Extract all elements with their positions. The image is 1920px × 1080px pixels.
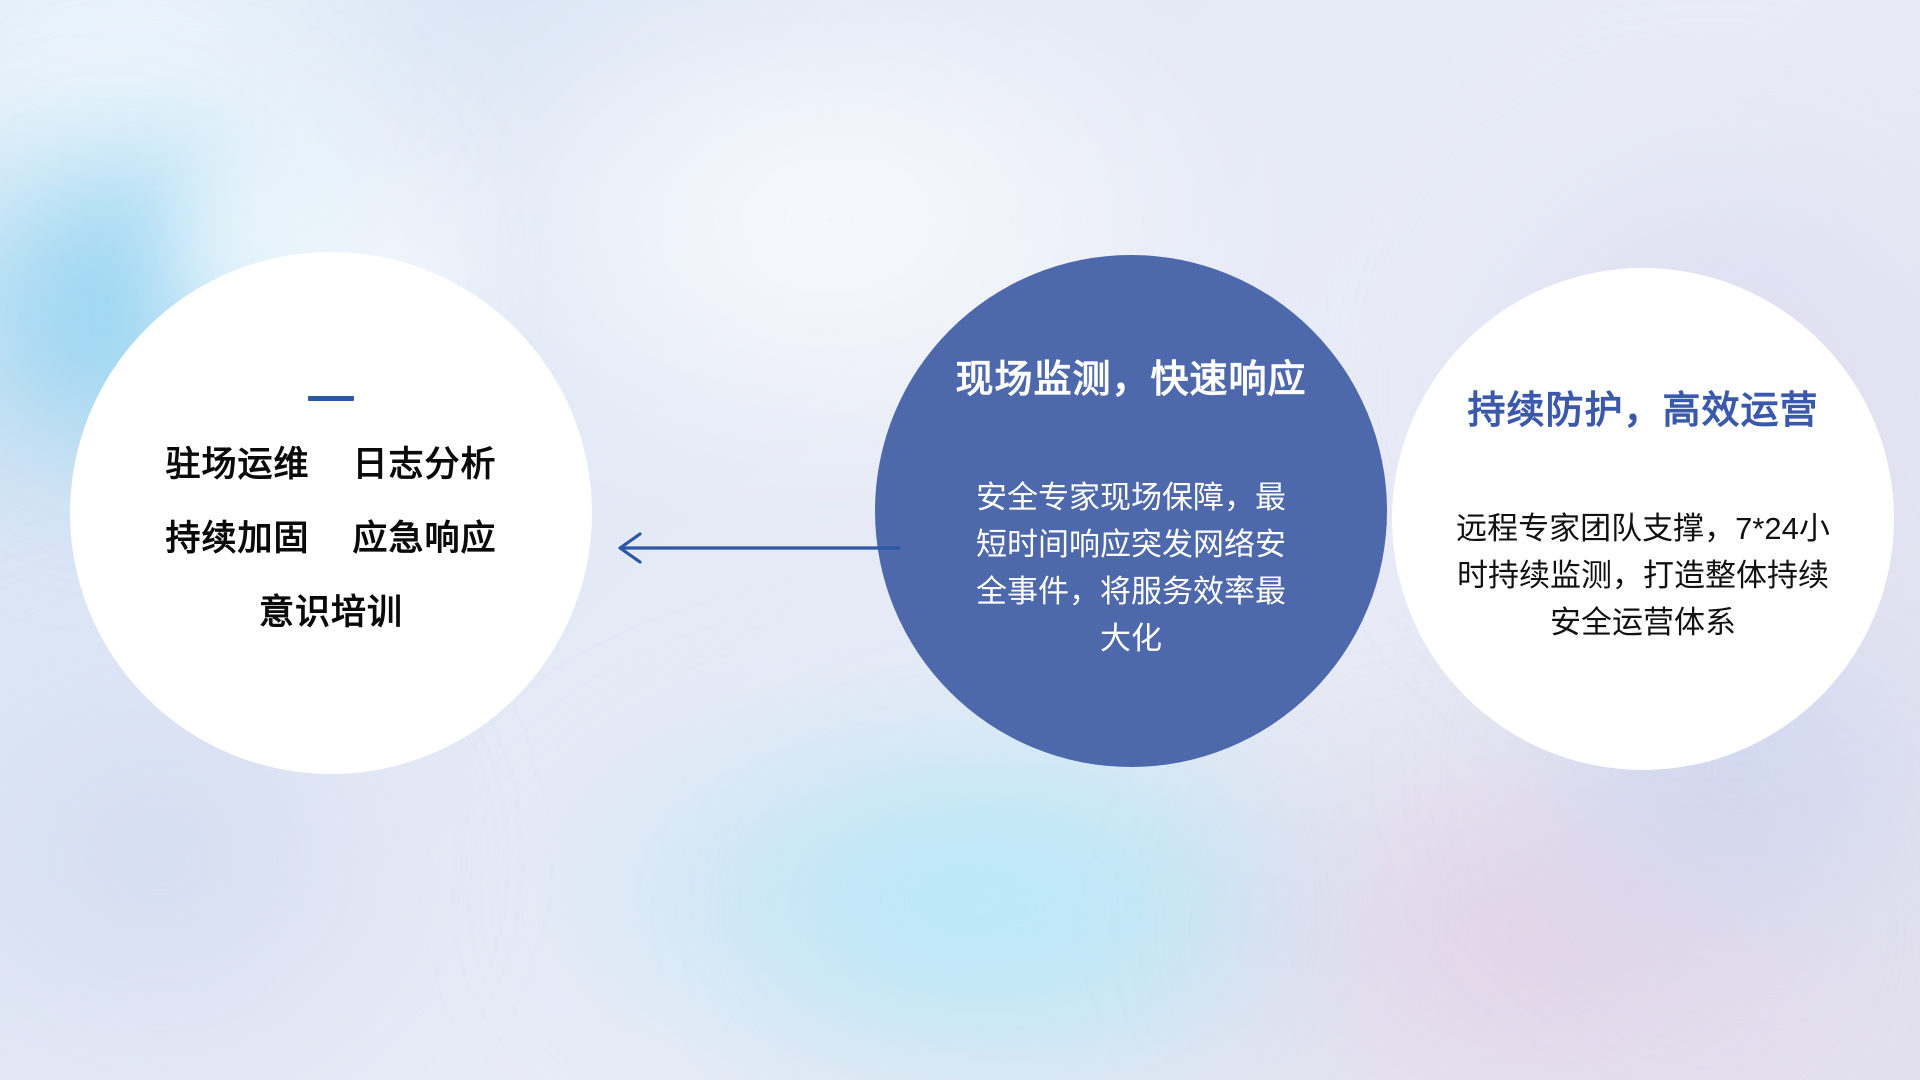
- feature-circle-onsite[interactable]: 现场监测，快速响应 安全专家现场保障，最短时间响应突发网络安全事件，将服务效率最…: [875, 255, 1387, 767]
- capability-line-3: 意识培训: [259, 595, 403, 630]
- feature-circle-onsite-content: 现场监测，快速响应 安全专家现场保障，最短时间响应突发网络安全事件，将服务效率最…: [875, 255, 1387, 767]
- feature-circle-remote[interactable]: 持续防护，高效运营 远程专家团队支撑，7*24小时持续监测，打造整体持续安全运营…: [1392, 268, 1894, 770]
- capability-circle-left-content: 驻场运维 日志分析 持续加固 应急响应 意识培训: [70, 252, 592, 774]
- feature-onsite-body: 安全专家现场保障，最短时间响应突发网络安全事件，将服务效率最大化: [966, 474, 1296, 662]
- capability-line-2: 持续加固 应急响应: [166, 521, 497, 556]
- feature-onsite-title: 现场监测，快速响应: [955, 360, 1306, 402]
- capability-line-1: 驻场运维 日志分析: [166, 447, 497, 482]
- feature-circle-remote-content: 持续防护，高效运营 远程专家团队支撑，7*24小时持续监测，打造整体持续安全运营…: [1392, 268, 1894, 770]
- feature-remote-body: 远程专家团队支撑，7*24小时持续监测，打造整体持续安全运营体系: [1443, 505, 1843, 646]
- divider-dash: [308, 396, 354, 401]
- capability-circle-left[interactable]: 驻场运维 日志分析 持续加固 应急响应 意识培训: [70, 252, 592, 774]
- slide-canvas: 驻场运维 日志分析 持续加固 应急响应 意识培训 现场监测，快速响应 安全专家现…: [0, 0, 1920, 1080]
- connector-arrow-svg: [600, 520, 900, 576]
- connector-arrow: [600, 520, 900, 581]
- feature-remote-title: 持续防护，高效运营: [1467, 391, 1818, 433]
